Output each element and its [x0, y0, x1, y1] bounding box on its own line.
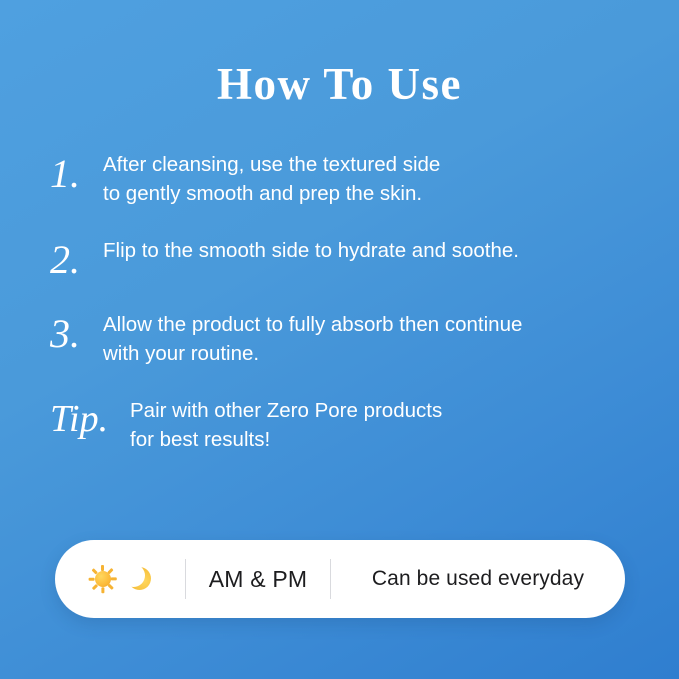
sun-ray: [88, 577, 94, 580]
sun-ray: [91, 583, 98, 590]
tip-marker: Tip.: [50, 394, 130, 438]
tip-text-line1: Pair with other Zero Pore products: [130, 396, 650, 425]
step-marker-2: 2.: [50, 234, 103, 280]
moon-icon: [127, 566, 153, 592]
list-item-tip: Tip. Pair with other Zero Pore products …: [50, 394, 650, 454]
step-text-3: Allow the product to fully absorb then c…: [103, 308, 650, 368]
tip-text: Pair with other Zero Pore products for b…: [130, 394, 650, 454]
sun-ray: [110, 577, 116, 580]
step-text-3-line2: with your routine.: [103, 339, 650, 368]
sun-icon: [88, 564, 118, 594]
step-marker-1: 1.: [50, 148, 103, 194]
step-text-2: Flip to the smooth side to hydrate and s…: [103, 234, 650, 265]
usage-time-label: AM & PM: [186, 566, 330, 593]
step-text-1-line1: After cleansing, use the textured side: [103, 150, 650, 179]
how-to-use-card: How To Use 1. After cleansing, use the t…: [0, 0, 679, 679]
usage-frequency-label: Can be used everyday: [331, 567, 625, 591]
tip-text-line2: for best results!: [130, 425, 650, 454]
step-text-1-line2: to gently smooth and prep the skin.: [103, 179, 650, 208]
moon-cut: [122, 564, 145, 587]
list-item: 1. After cleansing, use the textured sid…: [50, 148, 650, 208]
step-text-2-line1: Flip to the smooth side to hydrate and s…: [103, 236, 650, 265]
step-text-3-line1: Allow the product to fully absorb then c…: [103, 310, 650, 339]
list-item: 3. Allow the product to fully absorb the…: [50, 308, 650, 368]
step-text-1: After cleansing, use the textured side t…: [103, 148, 650, 208]
sun-ray: [107, 583, 114, 590]
usage-icons: [55, 564, 185, 594]
usage-banner: AM & PM Can be used everyday: [55, 540, 625, 618]
sun-ray: [107, 568, 114, 575]
sun-ray: [101, 587, 104, 593]
steps-list: 1. After cleansing, use the textured sid…: [50, 148, 650, 454]
step-marker-3: 3.: [50, 308, 103, 354]
page-title: How To Use: [0, 60, 679, 110]
list-item: 2. Flip to the smooth side to hydrate an…: [50, 234, 650, 280]
sun-ray: [101, 565, 104, 571]
